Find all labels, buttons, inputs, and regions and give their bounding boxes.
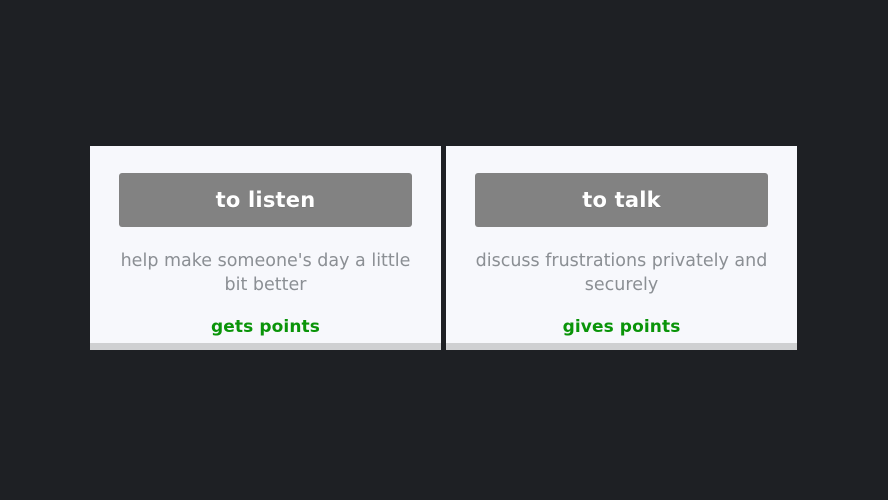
card-description-listen: help make someone's day a little bit bet… (119, 249, 412, 297)
card-points-badge-talk: gives points (475, 317, 768, 337)
choice-card-talk[interactable]: to talk discuss frustrations privately a… (446, 146, 797, 350)
choice-card-row: to listen help make someone's day a litt… (90, 146, 797, 350)
card-footer-talk (446, 343, 797, 350)
page-root: to listen help make someone's day a litt… (0, 0, 888, 500)
card-body-talk: to talk discuss frustrations privately a… (446, 146, 797, 343)
choice-card-listen[interactable]: to listen help make someone's day a litt… (90, 146, 441, 350)
to-talk-button[interactable]: to talk (475, 173, 768, 227)
card-footer-listen (90, 343, 441, 350)
card-body-listen: to listen help make someone's day a litt… (90, 146, 441, 343)
to-listen-button[interactable]: to listen (119, 173, 412, 227)
card-points-badge-listen: gets points (119, 317, 412, 337)
card-description-talk: discuss frustrations privately and secur… (475, 249, 768, 297)
